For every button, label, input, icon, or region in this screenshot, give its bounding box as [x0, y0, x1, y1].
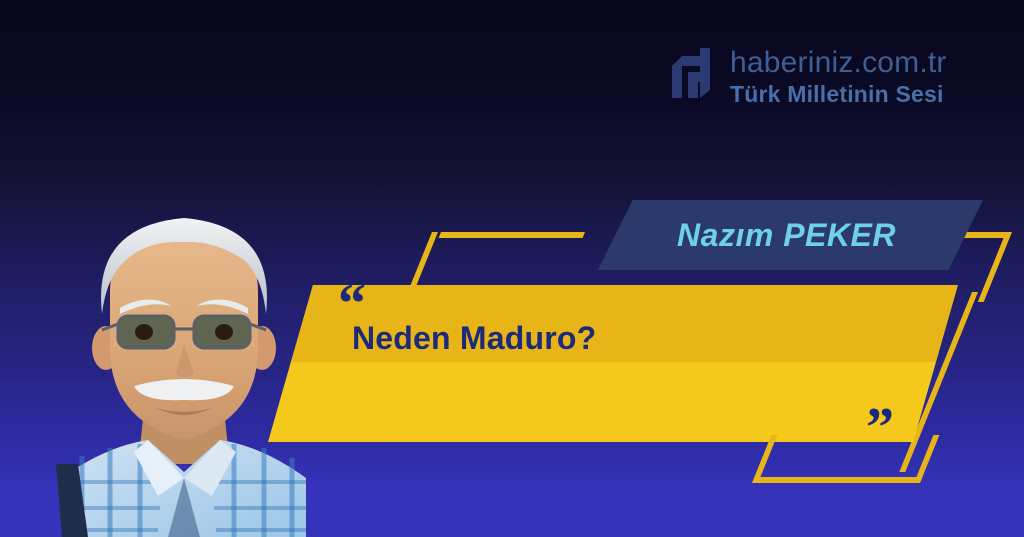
- headline-text: Neden Maduro?: [352, 320, 596, 357]
- bracket-horizontal: [439, 232, 585, 238]
- bracket-vertical: [407, 232, 438, 294]
- author-name: Nazım PEKER: [677, 217, 896, 254]
- portrait-illustration: [48, 196, 320, 537]
- author-name-banner: Nazım PEKER: [598, 200, 983, 270]
- h-monogram-icon: [668, 48, 714, 106]
- site-tagline: Türk Milletinin Sesi: [730, 83, 947, 106]
- bracket-vertical-left: [752, 435, 777, 483]
- headline-box: [268, 285, 958, 442]
- author-portrait: [48, 196, 320, 537]
- article-banner-graphic: haberiniz.com.tr Türk Milletinin Sesi Na…: [0, 0, 1024, 537]
- stripe-cyan: [0, 0, 184, 223]
- accent-bracket-bottom-right: [752, 435, 924, 483]
- accent-bracket-top-left: [432, 232, 584, 294]
- site-name: haberiniz.com.tr: [730, 48, 947, 78]
- stripe-pink-large: [0, 0, 18, 441]
- bracket-vertical: [978, 232, 1012, 302]
- site-logo[interactable]: haberiniz.com.tr Türk Milletinin Sesi: [668, 48, 947, 106]
- stripe-cyan-thin: [0, 0, 9, 186]
- stripe-mask-2: [0, 0, 113, 19]
- bracket-horizontal: [752, 477, 922, 483]
- bracket-vertical-right: [914, 435, 939, 483]
- stripe-mask-3: [0, 0, 204, 42]
